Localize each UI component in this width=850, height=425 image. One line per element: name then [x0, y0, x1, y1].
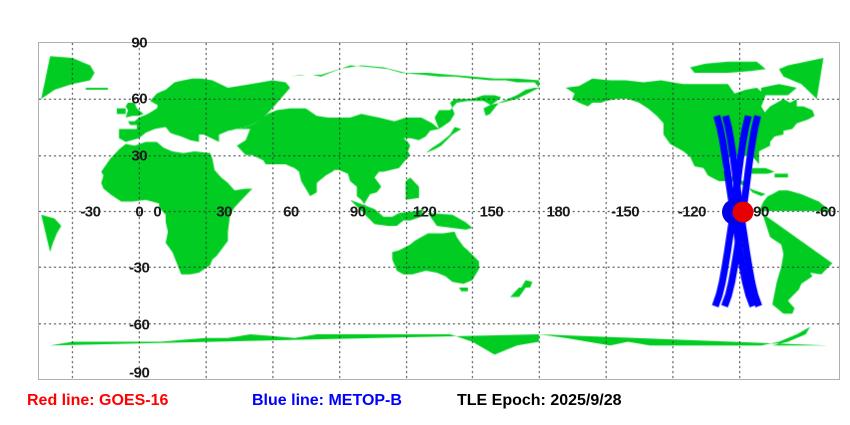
lon-tick-label: 60 [283, 204, 299, 221]
lat-tick-label: 90 [131, 35, 147, 52]
lon-tick-label: -150 [611, 204, 639, 221]
lat-tick-label: 0 [135, 204, 143, 221]
lon-tick-label: 150 [480, 204, 504, 221]
lat-tick-label: 30 [131, 147, 147, 164]
legend-entry-goes-16: Red line: GOES-16 [27, 392, 168, 410]
map-legend: Red line: GOES-16 Blue line: METOP-B TLE… [0, 392, 850, 420]
lon-tick-label: 90 [350, 204, 366, 221]
satellite-ground-track-map: 9060300-30-60-90-300306090120150180-150-… [0, 0, 850, 425]
lat-tick-label: 60 [131, 91, 147, 108]
lat-tick-label: -30 [129, 260, 149, 277]
legend-entry-tle-epoch: TLE Epoch: 2025/9/28 [457, 392, 622, 410]
lon-tick-label: 0 [153, 204, 161, 221]
lon-tick-label: -120 [678, 204, 706, 221]
map-plot-frame: 9060300-30-60-90-300306090120150180-150-… [38, 42, 840, 380]
lon-tick-label: 180 [546, 204, 570, 221]
lon-tick-label: 120 [413, 204, 437, 221]
legend-entry-metop-b: Blue line: METOP-B [252, 392, 402, 410]
lat-tick-label: -90 [129, 365, 149, 382]
lon-tick-label: 30 [216, 204, 232, 221]
lon-tick-label: -30 [80, 204, 100, 221]
goes-16-satellite-marker [732, 202, 753, 223]
lat-tick-label: -60 [129, 316, 149, 333]
lon-tick-label: -60 [815, 204, 835, 221]
